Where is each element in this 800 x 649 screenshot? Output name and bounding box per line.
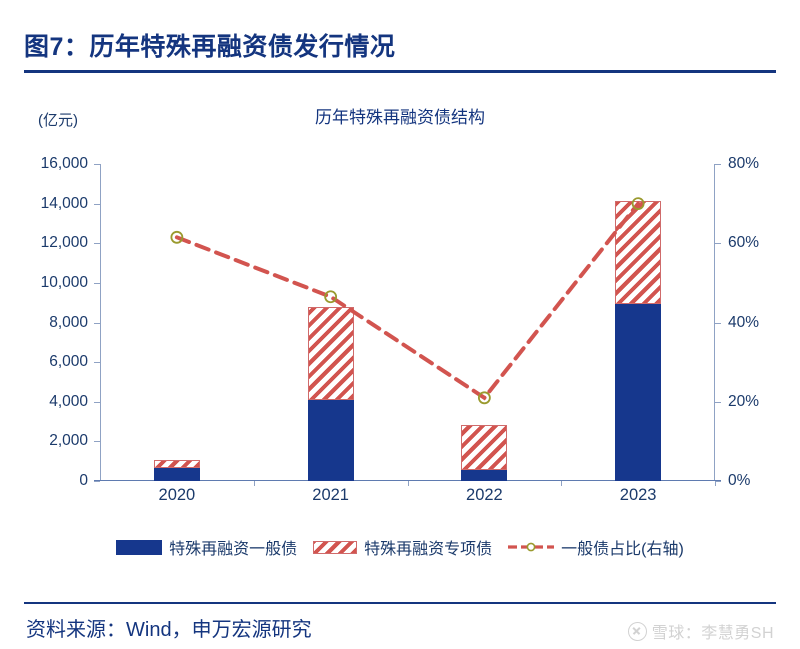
- legend-item-special-bond: 特殊再融资专项债: [313, 535, 492, 559]
- right-axis-tick-label: 40%: [728, 314, 798, 332]
- right-axis-tick: [715, 243, 721, 244]
- x-axis-tick: [561, 481, 562, 486]
- left-axis-tick-label: 8,000: [8, 314, 88, 332]
- legend-swatch-hatched-icon: [313, 541, 357, 554]
- right-axis-tick: [715, 164, 721, 165]
- x-axis-tick-label: 2022: [424, 486, 544, 505]
- left-axis-tick-label: 12,000: [8, 234, 88, 252]
- legend-swatch-dashed-line-icon: [508, 540, 554, 554]
- right-axis-tick-label: 20%: [728, 393, 798, 411]
- ratio-line-marker[interactable]: [171, 232, 182, 243]
- x-axis-tick: [254, 481, 255, 486]
- footer-divider: [24, 602, 776, 604]
- left-axis-tick-label: 16,000: [8, 155, 88, 173]
- right-axis-tick: [715, 323, 721, 324]
- x-axis-tick-label: 2023: [578, 486, 698, 505]
- legend-label-special-bond: 特殊再融资专项债: [364, 535, 492, 559]
- plot-area: 02,0004,0006,0008,00010,00012,00014,0001…: [100, 164, 715, 481]
- left-axis-tick-label: 6,000: [8, 353, 88, 371]
- x-axis-tick-label: 2021: [271, 486, 391, 505]
- left-axis-tick-label: 0: [8, 472, 88, 490]
- legend-item-ratio-line: 一般债占比(右轴): [508, 535, 684, 559]
- right-axis-tick-label: 80%: [728, 155, 798, 173]
- right-axis-tick-label: 60%: [728, 234, 798, 252]
- chart-title: 历年特殊再融资债结构: [0, 103, 800, 128]
- left-axis-tick-label: 4,000: [8, 393, 88, 411]
- legend-swatch-solid-icon: [116, 540, 162, 555]
- ratio-line-marker[interactable]: [633, 198, 644, 209]
- legend-item-general-bond: 特殊再融资一般债: [116, 535, 297, 559]
- legend-label-general-bond: 特殊再融资一般债: [169, 535, 297, 559]
- legend-label-ratio-line: 一般债占比(右轴): [561, 535, 684, 559]
- left-axis-tick-label: 10,000: [8, 274, 88, 292]
- report-header: 图7：历年特殊再融资债发行情况: [24, 34, 776, 73]
- ratio-line-marker[interactable]: [325, 291, 336, 302]
- left-axis-tick-label: 14,000: [8, 195, 88, 213]
- x-axis-tick-label: 2020: [117, 486, 237, 505]
- header-divider: [24, 70, 776, 73]
- ratio-line-path: [177, 204, 638, 398]
- y-axis-unit-label: (亿元): [38, 109, 78, 130]
- x-axis-tick: [715, 481, 716, 486]
- ratio-line-series: [100, 164, 715, 481]
- chart-legend: 特殊再融资一般债 特殊再融资专项债 一般债占比(右轴): [0, 535, 800, 559]
- right-axis-tick-label: 0%: [728, 472, 798, 490]
- watermark-text: 雪球：李慧勇SH: [652, 619, 774, 643]
- x-axis-tick: [408, 481, 409, 486]
- left-axis-tick: [94, 481, 100, 482]
- left-axis-tick-label: 2,000: [8, 432, 88, 450]
- chart-container: 历年特殊再融资债结构 (亿元) 02,0004,0006,0008,00010,…: [0, 95, 800, 535]
- watermark: 雪球：李慧勇SH: [628, 619, 774, 643]
- right-axis-tick: [715, 402, 721, 403]
- page-title: 图7：历年特殊再融资债发行情况: [24, 34, 776, 62]
- xueqiu-logo-icon: [628, 622, 647, 641]
- source-note: 资料来源：Wind，申万宏源研究: [26, 613, 312, 642]
- ratio-line-marker[interactable]: [479, 392, 490, 403]
